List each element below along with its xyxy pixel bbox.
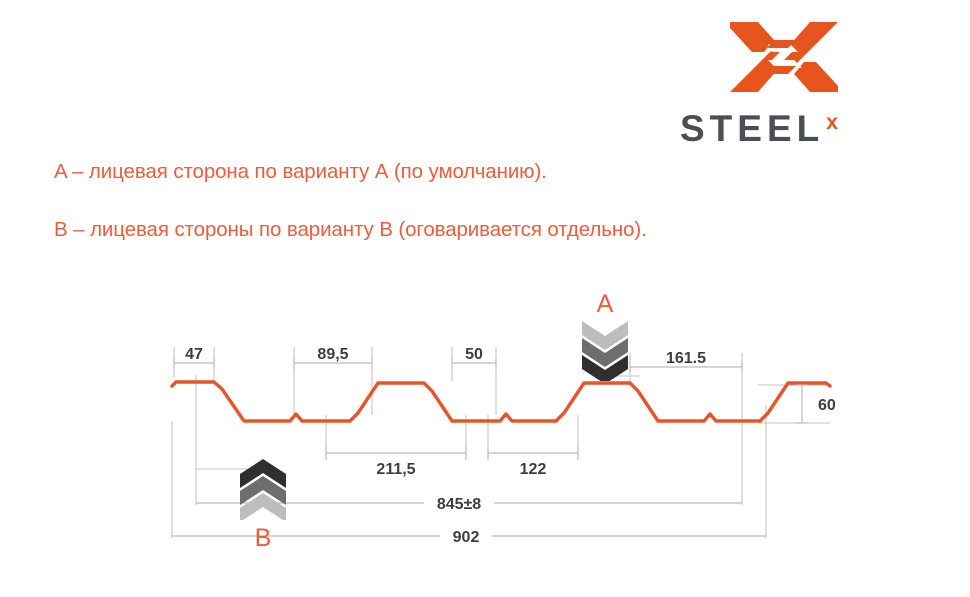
marker-b-label: B xyxy=(236,526,290,551)
brand-logo: STEEL x xyxy=(680,18,890,143)
dim-89-5-label: 89,5 xyxy=(317,346,348,363)
brand-superscript-x: x xyxy=(826,112,838,133)
profile-drawing: 47 89,5 50 161.5 211,5 122 xyxy=(0,255,970,565)
brand-wordmark-text: STEEL xyxy=(680,110,824,147)
dim-50-label: 50 xyxy=(465,346,483,363)
dim-122-label: 122 xyxy=(520,461,547,478)
marker-b: B xyxy=(236,458,290,551)
marker-a: A xyxy=(578,292,632,386)
steelx-x-monogram-icon xyxy=(728,18,840,96)
caption-variant-b: B – лицевая стороны по варианту B (огова… xyxy=(54,218,647,242)
chevron-up-icon xyxy=(236,458,290,520)
dim-47-label: 47 xyxy=(185,346,203,363)
brand-wordmark: STEEL x xyxy=(680,110,890,150)
dimension-lines-height xyxy=(796,385,808,423)
dim-60-label: 60 xyxy=(818,397,836,414)
dim-845-label: 845±8 xyxy=(437,496,481,513)
dim-211-5-label: 211,5 xyxy=(376,461,415,478)
chevron-down-icon xyxy=(578,319,632,381)
dim-902-label: 902 xyxy=(453,529,480,546)
marker-a-label: A xyxy=(578,292,632,317)
dimension-lines-top xyxy=(174,357,742,373)
profile-cross-section-path xyxy=(172,382,830,421)
caption-variant-a: A – лицевая сторона по варианту А (по ум… xyxy=(54,160,547,184)
dimension-lines-middle xyxy=(326,447,578,459)
page-root: STEEL x A – лицевая сторона по варианту … xyxy=(0,0,970,597)
dim-161-5-label: 161.5 xyxy=(666,350,706,367)
